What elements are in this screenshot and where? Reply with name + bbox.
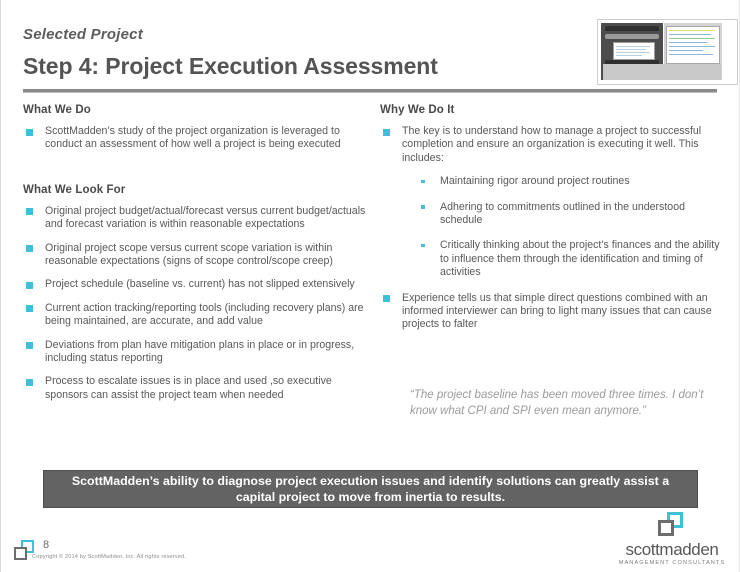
list-item: ScottMadden’s study of the project organ… <box>23 125 368 152</box>
thumbnail-footer-band <box>603 64 721 80</box>
brand-logo-icon <box>657 512 687 538</box>
sub-list-item-text: Critically thinking about the project’s … <box>440 239 720 278</box>
list-item-text: Original project scope versus current sc… <box>45 242 333 267</box>
sub-list-item: Critically thinking about the project’s … <box>412 239 720 279</box>
process-overview-thumbnail <box>597 19 738 85</box>
list-item-text: Experience tells us that simple direct q… <box>402 292 712 331</box>
left-content-column: What We Do ScottMadden’s study of the pr… <box>23 104 368 412</box>
nested-list-wrapper: Maintaining rigor around project routine… <box>412 175 720 279</box>
section-heading-why-we-do-it: Why We Do It <box>380 104 720 116</box>
list-item-text: Process to escalate issues is in place a… <box>45 375 332 400</box>
bullet-square-icon <box>383 295 390 302</box>
list-item-text: Current action tracking/reporting tools … <box>45 302 364 327</box>
what-we-do-list: ScottMadden’s study of the project organ… <box>23 125 368 152</box>
bullet-square-icon <box>26 129 33 136</box>
bullet-dot-icon <box>421 205 425 209</box>
page-title: Step 4: Project Execution Assessment <box>23 53 438 80</box>
list-item: The key is to understand how to manage a… <box>380 125 720 280</box>
sub-list-item: Maintaining rigor around project routine… <box>412 175 720 188</box>
key-takeaway-banner: ScottMadden’s ability to diagnose projec… <box>43 470 698 508</box>
page-number: 8 <box>43 539 49 551</box>
brand-name: scottmadden <box>614 541 730 559</box>
logo-square-gray <box>14 547 27 560</box>
bullet-square-icon <box>26 379 33 386</box>
sub-list-item: Adhering to commitments outlined in the … <box>412 201 720 228</box>
brand-tagline: MANAGEMENT CONSULTANTS <box>614 560 730 566</box>
what-we-look-for-list: Original project budget/actual/forecast … <box>23 205 368 402</box>
bullet-square-icon <box>26 342 33 349</box>
why-we-do-it-sublist: Maintaining rigor around project routine… <box>412 175 720 279</box>
list-item-text: Original project budget/actual/forecast … <box>45 205 365 230</box>
list-item: Deviations from plan have mitigation pla… <box>23 339 368 366</box>
bullet-square-icon <box>26 208 33 215</box>
section-heading-what-we-do: What We Do <box>23 104 368 116</box>
thumbnail-bar <box>605 34 659 39</box>
list-item-text: ScottMadden’s study of the project organ… <box>45 125 341 150</box>
list-item: Current action tracking/reporting tools … <box>23 302 368 329</box>
bullet-dot-icon <box>421 244 425 248</box>
thumbnail-bar <box>605 26 659 31</box>
copyright-notice: Copyright © 2014 by ScottMadden, Inc. Al… <box>32 554 186 560</box>
list-item: Original project scope versus current sc… <box>23 242 368 269</box>
list-item: Experience tells us that simple direct q… <box>380 292 720 332</box>
bullet-square-icon <box>26 282 33 289</box>
slide-eyebrow: Selected Project <box>23 26 143 43</box>
list-item: Original project budget/actual/forecast … <box>23 205 368 232</box>
slide-canvas: Selected Project Step 4: Project Executi… <box>0 0 740 572</box>
list-item-text: Deviations from plan have mitigation pla… <box>45 339 354 364</box>
list-item: Project schedule (baseline vs. current) … <box>23 278 368 291</box>
sub-list-item-text: Adhering to commitments outlined in the … <box>440 201 685 226</box>
list-item-text: Project schedule (baseline vs. current) … <box>45 278 355 290</box>
thumbnail-report-page <box>666 26 720 64</box>
title-divider <box>23 89 717 93</box>
thumbnail-card <box>613 42 655 60</box>
pull-quote: “The project baseline has been moved thr… <box>410 388 720 419</box>
section-heading-what-we-look-for: What We Look For <box>23 184 368 196</box>
bullet-square-icon <box>26 245 33 252</box>
list-item: Process to escalate issues is in place a… <box>23 375 368 402</box>
banner-text: ScottMadden’s ability to diagnose projec… <box>58 473 683 505</box>
right-content-column: Why We Do It The key is to understand ho… <box>380 104 720 342</box>
bullet-dot-icon <box>421 180 425 184</box>
brand-logo: scottmadden MANAGEMENT CONSULTANTS <box>614 512 730 566</box>
why-we-do-it-list: The key is to understand how to manage a… <box>380 125 720 332</box>
logo-square-gray <box>658 520 674 536</box>
bullet-square-icon <box>383 129 390 136</box>
bullet-square-icon <box>26 305 33 312</box>
list-item-text: The key is to understand how to manage a… <box>402 125 701 164</box>
sub-list-item-text: Maintaining rigor around project routine… <box>440 175 630 187</box>
